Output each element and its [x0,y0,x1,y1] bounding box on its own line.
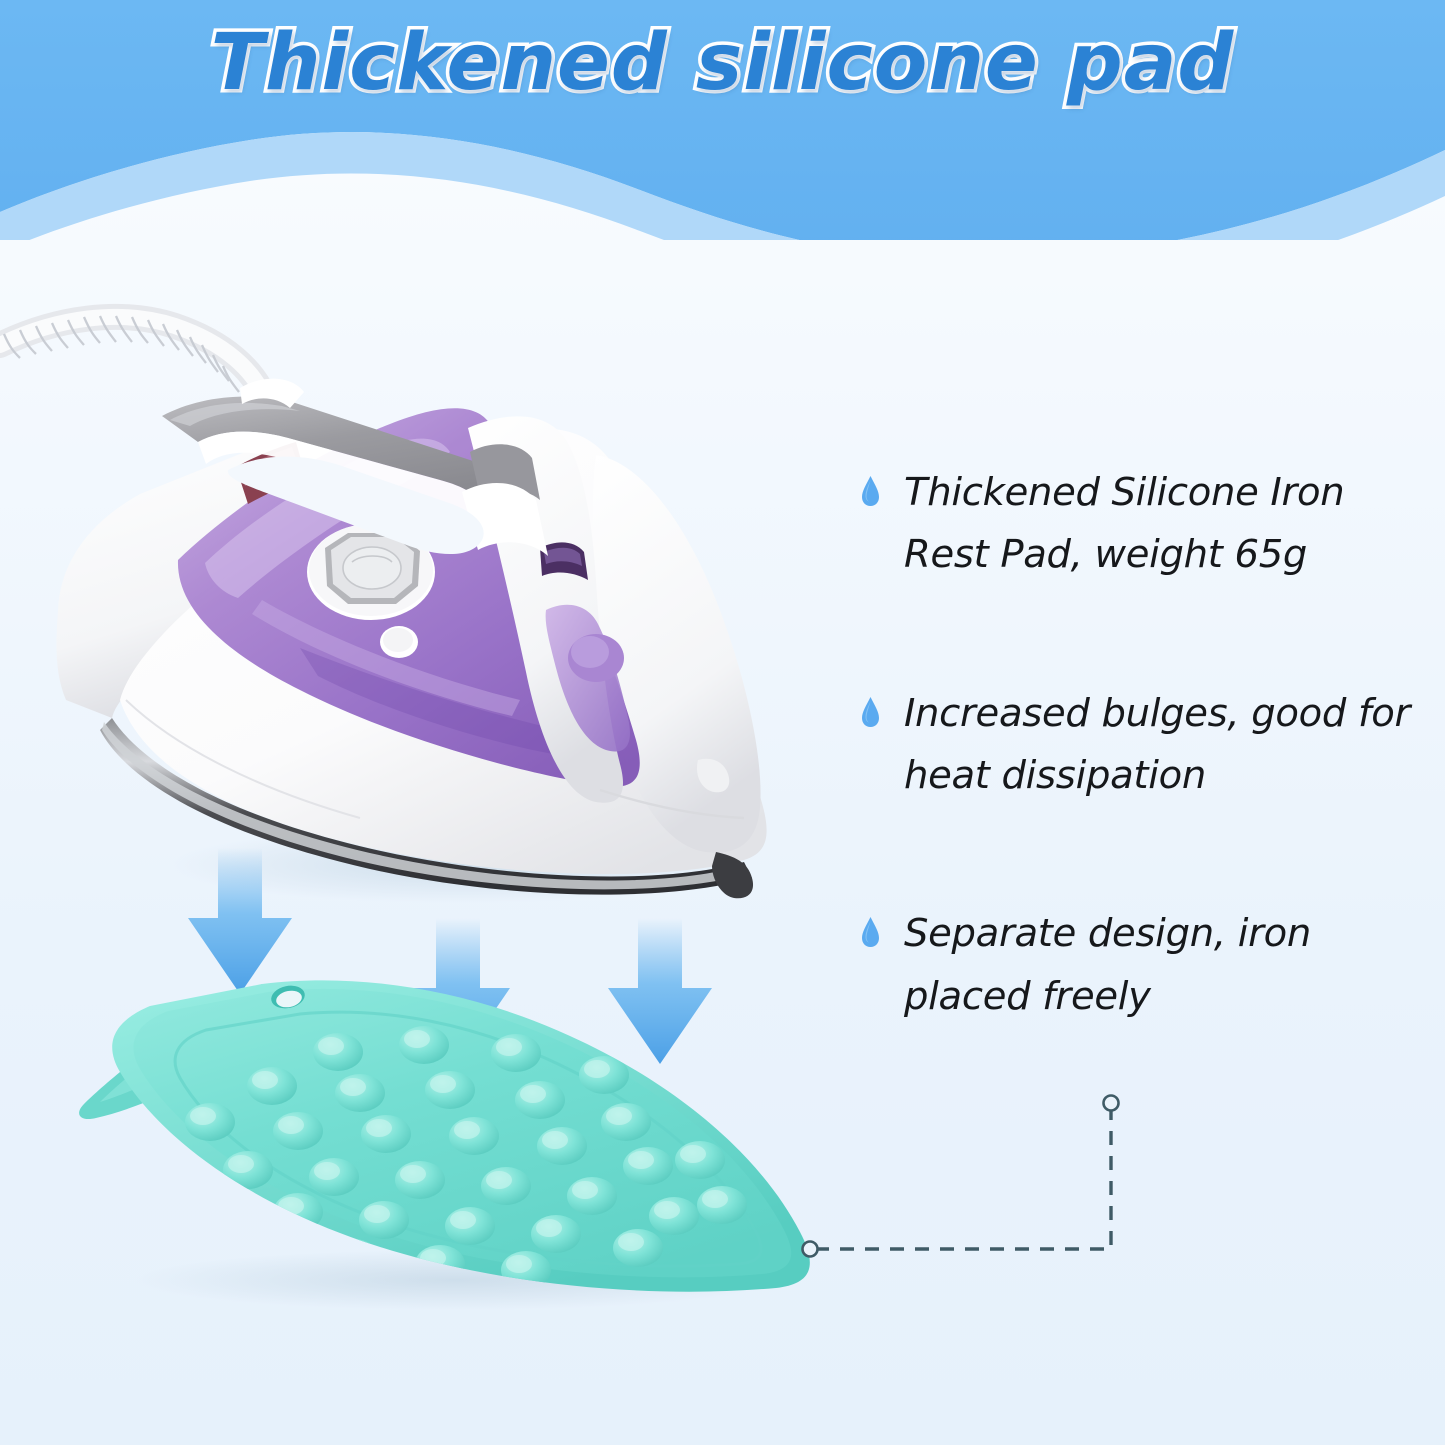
pad-bump [395,1161,445,1199]
pad-bump [445,1207,495,1245]
pad-bump [247,1067,297,1105]
feature-list: Thickened Silicone Iron Rest Pad, weight… [862,462,1432,1028]
pad-bump [531,1215,581,1253]
pad-bump [515,1081,565,1119]
pad-bump [309,1158,359,1196]
water-drop-icon [862,917,879,947]
pad-bump [273,1112,323,1150]
pad-bump [273,1193,323,1231]
water-drop-icon [862,476,879,506]
pad-bump [537,1127,587,1165]
callout-endpoint [803,1242,818,1257]
pad-bump [613,1229,663,1267]
pad-bump [649,1197,699,1235]
pad-bump [697,1186,747,1224]
pad-bump [567,1177,617,1215]
pad-bump [675,1141,725,1179]
pad-bump [185,1103,235,1141]
pad-bump [335,1074,385,1112]
feature-text: Separate design, iron placed freely [904,903,1432,1028]
product-infographic: Thickened silicone pad [0,0,1445,1445]
water-drop-icon [862,697,879,727]
feature-text: Thickened Silicone Iron Rest Pad, weight… [904,462,1432,587]
page-title: Thickened silicone pad [0,18,1445,108]
pad-bump [579,1056,629,1094]
callout-line [815,1108,1111,1249]
pad-bump [223,1151,273,1189]
list-item: Separate design, iron placed freely [862,903,1432,1028]
feature-text: Increased bulges, good for heat dissipat… [904,683,1432,808]
pad-bump [623,1147,673,1185]
pad-bump [399,1026,449,1064]
pad-bump [313,1033,363,1071]
list-item: Increased bulges, good for heat dissipat… [862,683,1432,808]
steam-iron [56,379,766,899]
pad-bump [425,1071,475,1109]
pad-bump [491,1034,541,1072]
callout-endpoint [1104,1096,1119,1111]
pad-bump [481,1167,531,1205]
spray-button [380,626,418,658]
pad-bump [361,1115,411,1153]
pad-bump [449,1117,499,1155]
list-item: Thickened Silicone Iron Rest Pad, weight… [862,462,1432,587]
pad-bump [359,1201,409,1239]
silicone-iron-rest-pad [79,980,810,1310]
dimension-callout [803,1096,1119,1257]
down-arrow [608,918,712,1064]
pad-bump [601,1103,651,1141]
power-cord [0,316,262,392]
